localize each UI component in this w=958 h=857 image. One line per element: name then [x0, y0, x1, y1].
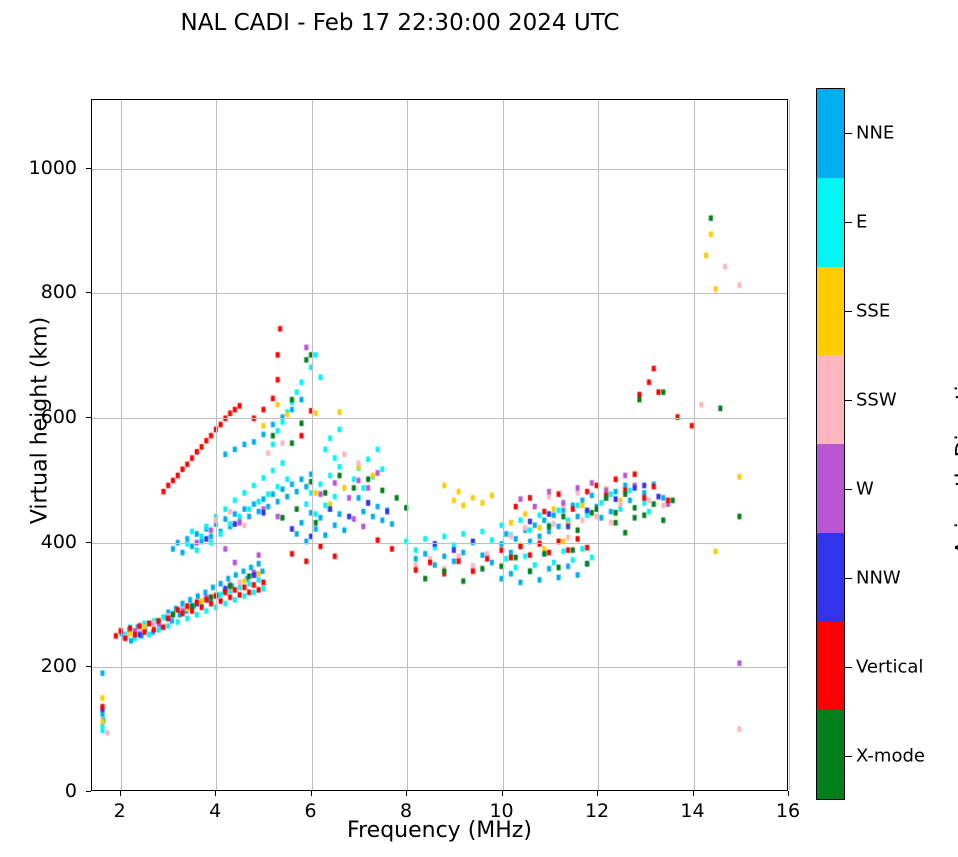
colorbar-label-sse: SSE	[856, 300, 890, 321]
x-gridline	[694, 100, 695, 790]
y-tick-label: 200	[0, 655, 77, 677]
x-tick-label: 4	[209, 800, 221, 822]
colorbar-segment-ssw	[817, 355, 844, 444]
x-gridline	[503, 100, 504, 790]
x-tick-label: 8	[400, 800, 412, 822]
y-gridline	[92, 293, 787, 294]
x-gridline	[598, 100, 599, 790]
y-tick	[86, 542, 91, 543]
colorbar-segment-nne	[817, 89, 844, 178]
colorbar-tick	[845, 311, 852, 312]
y-gridline	[92, 543, 787, 544]
colorbar-title: Azimuth Direction	[953, 297, 958, 617]
colorbar-tick	[845, 133, 852, 134]
y-gridline	[92, 667, 787, 668]
colorbar	[816, 88, 845, 800]
colorbar-segment-nnw	[817, 533, 844, 622]
x-tick-label: 16	[776, 800, 800, 822]
colorbar-label-ssw: SSW	[856, 389, 897, 410]
colorbar-tick	[845, 489, 852, 490]
ionogram-page: NAL CADI - Feb 17 22:30:00 2024 UTC Virt…	[0, 0, 958, 857]
x-tick-label: 2	[114, 800, 126, 822]
x-tick-label: 12	[585, 800, 609, 822]
plot-area	[91, 99, 788, 791]
colorbar-segment-vertical	[817, 622, 844, 711]
colorbar-tick	[845, 578, 852, 579]
y-tick-label: 800	[0, 281, 77, 303]
x-gridline	[789, 100, 790, 790]
x-tick	[788, 791, 789, 796]
x-tick	[597, 791, 598, 796]
y-tick	[86, 666, 91, 667]
page-title: NAL CADI - Feb 17 22:30:00 2024 UTC	[0, 10, 800, 36]
y-tick	[86, 292, 91, 293]
colorbar-label-nnw: NNW	[856, 567, 901, 588]
x-tick	[311, 791, 312, 796]
x-gridline	[312, 100, 313, 790]
y-tick-label: 400	[0, 531, 77, 553]
y-tick	[86, 791, 91, 792]
colorbar-segment-e	[817, 178, 844, 267]
x-tick	[693, 791, 694, 796]
colorbar-tick	[845, 400, 852, 401]
x-tick	[406, 791, 407, 796]
x-gridline	[121, 100, 122, 790]
colorbar-label-vertical: Vertical	[856, 656, 923, 677]
y-tick	[86, 168, 91, 169]
colorbar-tick	[845, 756, 852, 757]
x-gridline	[407, 100, 408, 790]
colorbar-segment-x-mode	[817, 710, 844, 799]
colorbar-label-x-mode: X-mode	[856, 745, 925, 766]
x-tick	[215, 791, 216, 796]
scatter-canvas	[92, 100, 787, 790]
y-tick	[86, 417, 91, 418]
x-tick	[120, 791, 121, 796]
colorbar-tick	[845, 222, 852, 223]
y-tick-label: 600	[0, 406, 77, 428]
colorbar-label-w: W	[856, 478, 874, 499]
x-gridline	[216, 100, 217, 790]
colorbar-segment-sse	[817, 267, 844, 356]
colorbar-label-e: E	[856, 211, 867, 232]
x-tick-label: 10	[489, 800, 513, 822]
colorbar-label-nne: NNE	[856, 122, 894, 143]
y-tick-label: 1000	[0, 157, 77, 179]
x-tick-label: 6	[305, 800, 317, 822]
x-tick	[502, 791, 503, 796]
y-gridline	[92, 418, 787, 419]
colorbar-segment-w	[817, 444, 844, 533]
colorbar-tick	[845, 667, 852, 668]
x-tick-label: 14	[680, 800, 704, 822]
y-gridline	[92, 169, 787, 170]
y-tick-label: 0	[0, 780, 77, 802]
